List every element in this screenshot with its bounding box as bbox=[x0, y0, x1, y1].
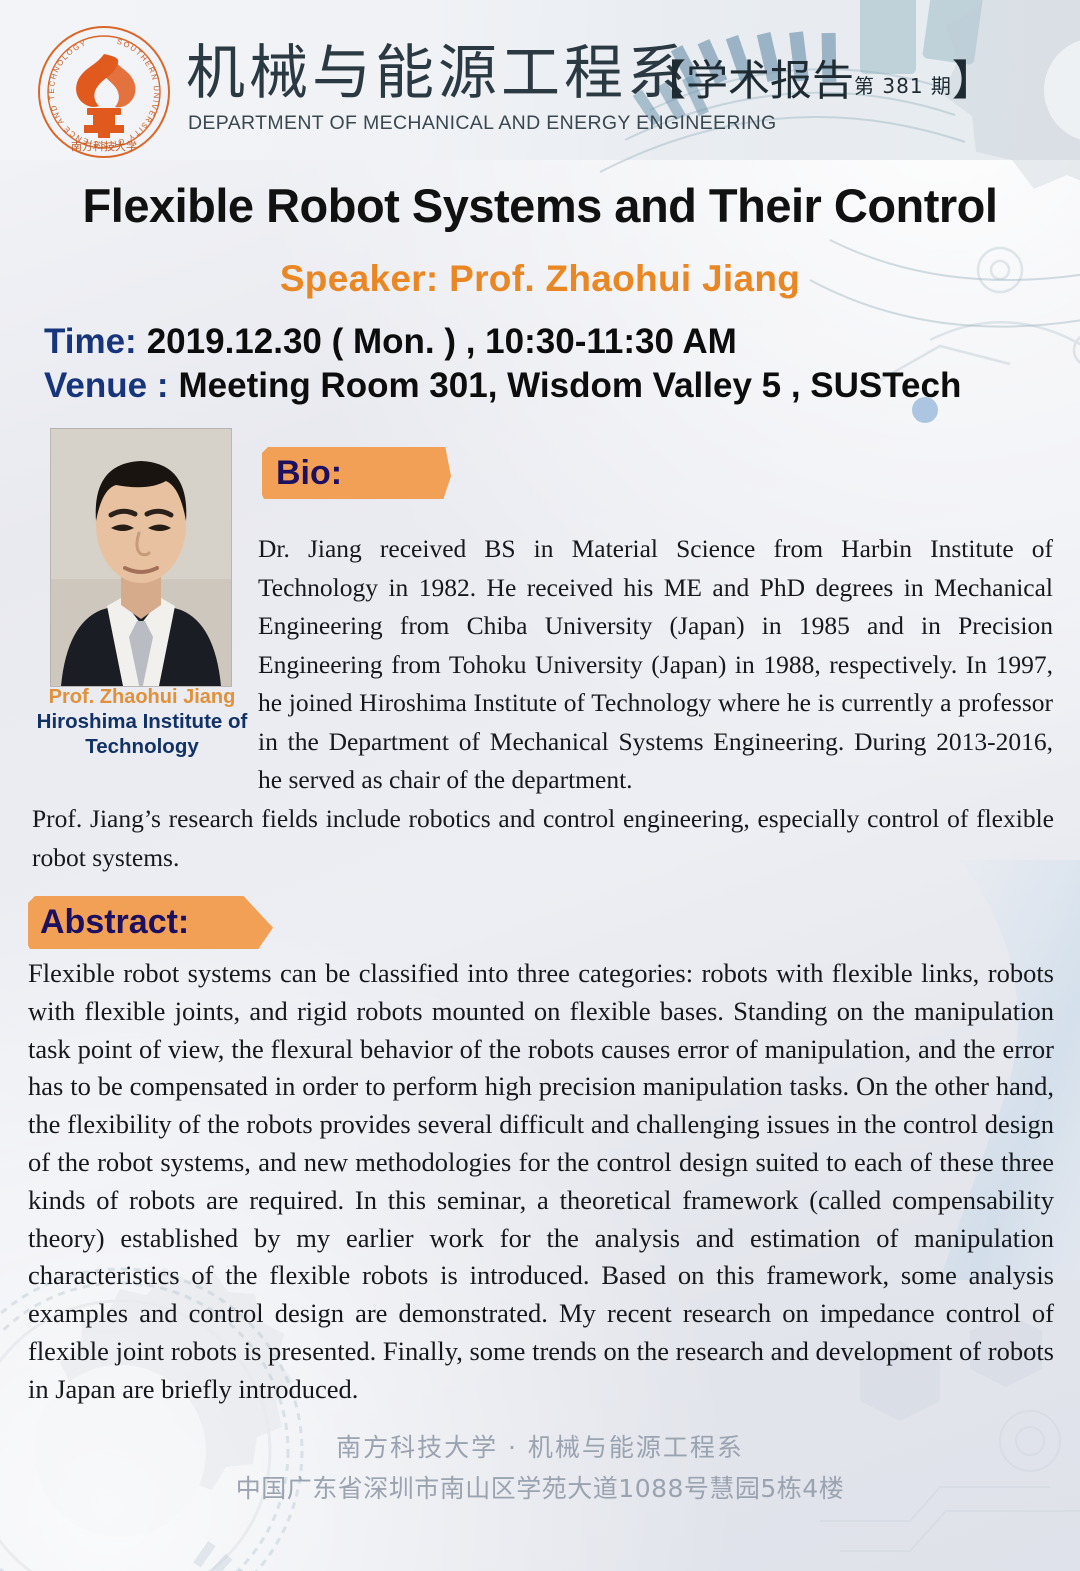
footer-department-line: 南方科技大学 · 机械与能源工程系 bbox=[0, 1428, 1080, 1468]
speaker-line: Speaker: Prof. Zhaohui Jiang bbox=[0, 258, 1080, 300]
time-label: Time: bbox=[44, 322, 137, 362]
time-value: 2019.12.30 ( Mon. ) , 10:30-11:30 AM bbox=[147, 322, 737, 362]
poster-header: SOUTHERN UNIVERSITY OF SCIENCE AND TECHN… bbox=[0, 0, 1080, 160]
series-issue-number: 第 381 期 bbox=[854, 74, 952, 98]
portrait-illustration bbox=[51, 429, 231, 686]
bio-tag-label: Bio: bbox=[276, 454, 342, 493]
lecture-series-badge: 【学术报告第 381 期】 bbox=[644, 58, 994, 109]
department-name-english: DEPARTMENT OF MECHANICAL AND ENERGY ENGI… bbox=[188, 112, 777, 135]
seminar-poster: SOUTHERN UNIVERSITY OF SCIENCE AND TECHN… bbox=[0, 0, 1080, 1571]
abstract-tag-label: Abstract: bbox=[40, 903, 189, 942]
series-close-bracket: 】 bbox=[952, 56, 994, 105]
svg-text:南方科技大学: 南方科技大学 bbox=[71, 139, 137, 153]
speaker-portrait-photo bbox=[50, 428, 232, 687]
footer-address-line: 中国广东省深圳市南山区学苑大道1088号慧园5栋4楼 bbox=[0, 1468, 1080, 1510]
venue-value: Meeting Room 301, Wisdom Valley 5 , SUST… bbox=[178, 366, 961, 406]
page-title: Flexible Robot Systems and Their Control bbox=[0, 178, 1080, 233]
venue-label: Venue : bbox=[44, 366, 168, 406]
bio-section-tag: Bio: bbox=[262, 447, 451, 499]
abstract-section-tag: Abstract: bbox=[28, 896, 273, 949]
photo-caption-affiliation: Hiroshima Institute of Technology bbox=[14, 709, 270, 759]
venue-row: Venue : Meeting Room 301, Wisdom Valley … bbox=[44, 366, 1054, 406]
bio-paragraph: Dr. Jiang received BS in Material Scienc… bbox=[258, 530, 1053, 800]
department-name-chinese: 机械与能源工程系 bbox=[186, 42, 690, 104]
time-row: Time: 2019.12.30 ( Mon. ) , 10:30-11:30 … bbox=[44, 322, 1054, 362]
poster-footer: 南方科技大学 · 机械与能源工程系 中国广东省深圳市南山区学苑大道1088号慧园… bbox=[0, 1428, 1080, 1510]
sustech-torch-logo-icon: SOUTHERN UNIVERSITY OF SCIENCE AND TECHN… bbox=[36, 24, 172, 160]
event-details: Time: 2019.12.30 ( Mon. ) , 10:30-11:30 … bbox=[44, 322, 1054, 410]
photo-caption-name: Prof. Zhaohui Jiang bbox=[20, 686, 264, 709]
series-open-bracket: 【学术报告 bbox=[644, 56, 854, 105]
abstract-paragraph: Flexible robot systems can be classified… bbox=[28, 955, 1054, 1409]
research-fields-paragraph: Prof. Jiang’s research fields include ro… bbox=[32, 800, 1054, 877]
